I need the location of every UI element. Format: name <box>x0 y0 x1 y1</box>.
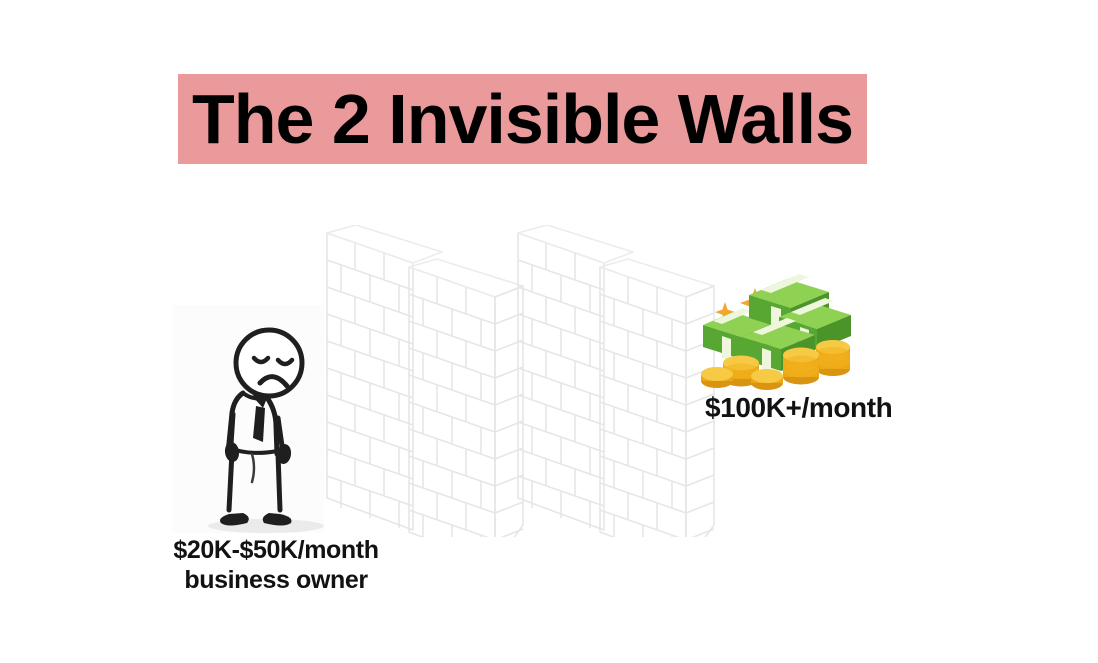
page-title: The 2 Invisible Walls <box>178 74 867 164</box>
wall-graphic-two <box>516 225 716 537</box>
sad-businessman-stick-figure-icon <box>196 326 336 538</box>
right-caption: $100K+/month <box>705 391 892 424</box>
left-caption-line-2: business owner <box>148 566 404 596</box>
wall-graphic-one <box>325 225 525 537</box>
money-stacks-emoji-icon <box>697 255 852 390</box>
left-caption-line-1: $20K-$50K/month <box>148 536 404 566</box>
slide-canvas: The 2 Invisible Walls <box>0 0 1098 663</box>
left-caption: $20K-$50K/month business owner <box>148 536 404 595</box>
